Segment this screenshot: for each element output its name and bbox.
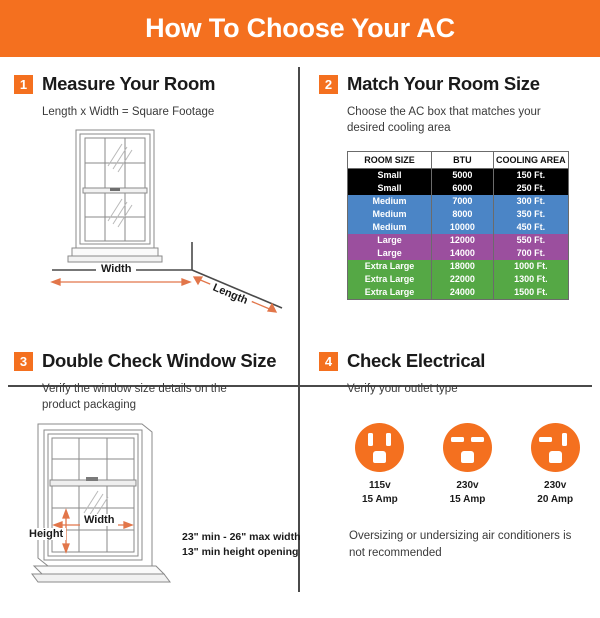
step-2-title: Match Your Room Size <box>347 73 540 95</box>
step-1-heading: 1 Measure Your Room <box>14 73 285 95</box>
table-row: Large12000550 Ft. <box>348 234 568 247</box>
cell-room-size: Medium <box>348 195 432 208</box>
btu-table-body: Small5000150 Ft. Small6000250 Ft. Medium… <box>348 168 568 299</box>
window-note-height: 13" min height opening <box>182 545 301 561</box>
step-1-badge: 1 <box>14 75 33 94</box>
cell-btu: 5000 <box>432 168 494 182</box>
ground-hole <box>461 451 474 463</box>
outlet-230v-20amp-voltage: 230v <box>524 479 586 493</box>
slot-vertical-left <box>368 433 373 446</box>
outlet-230v-15amp-voltage: 230v <box>437 479 499 493</box>
cell-room-size: Medium <box>348 221 432 234</box>
steps-grid: 1 Measure Your Room Length x Width = Squ… <box>0 57 600 600</box>
btu-table-wrapper: ROOM SIZE BTU COOLING AREA Small5000150 … <box>347 151 569 300</box>
cell-btu: 8000 <box>432 208 494 221</box>
table-row: Medium7000300 Ft. <box>348 195 568 208</box>
table-row: Extra Large240001500 Ft. <box>348 286 568 299</box>
step-4-badge: 4 <box>319 352 338 371</box>
step-3-title: Double Check Window Size <box>42 350 276 372</box>
table-row: Medium8000350 Ft. <box>348 208 568 221</box>
cell-btu: 14000 <box>432 247 494 260</box>
btu-table-header-row: ROOM SIZE BTU COOLING AREA <box>348 152 568 169</box>
step-4-title: Check Electrical <box>347 350 485 372</box>
step-1-panel: 1 Measure Your Room Length x Width = Squ… <box>0 57 299 328</box>
infographic-page: How To Choose Your AC 1 Measure Your Roo… <box>0 0 600 600</box>
cell-area: 1500 Ft. <box>493 286 568 299</box>
outlet-option-115v: 115v 15 Amp <box>349 423 411 506</box>
slot-horizontal-left <box>451 437 464 442</box>
cell-area: 450 Ft. <box>493 221 568 234</box>
outlet-230v-20amp-label: 230v 20 Amp <box>524 479 586 506</box>
cell-area: 250 Ft. <box>493 182 568 195</box>
outlet-type-list: 115v 15 Amp 230v 15 Amp <box>349 423 586 506</box>
btu-header-cooling-area: COOLING AREA <box>493 152 568 169</box>
outlet-230v-15amp-amperage: 15 Amp <box>437 493 499 507</box>
step-2-badge: 2 <box>319 75 338 94</box>
table-row: Small6000250 Ft. <box>348 182 568 195</box>
step-3-heading: 3 Double Check Window Size <box>14 350 285 372</box>
cell-room-size: Large <box>348 234 432 247</box>
cell-area: 1000 Ft. <box>493 260 568 273</box>
slot-horizontal-right <box>471 437 484 442</box>
outlet-230v-15amp-icon <box>443 423 492 472</box>
cell-room-size: Medium <box>348 208 432 221</box>
cell-area: 550 Ft. <box>493 234 568 247</box>
slot-vertical-right <box>562 433 567 446</box>
cell-btu: 24000 <box>432 286 494 299</box>
cell-btu: 18000 <box>432 260 494 273</box>
page-title: How To Choose Your AC <box>145 13 455 44</box>
cell-area: 1300 Ft. <box>493 273 568 286</box>
outlet-option-230v-20amp: 230v 20 Amp <box>524 423 586 506</box>
table-row: Medium10000450 Ft. <box>348 221 568 234</box>
table-row: Extra Large180001000 Ft. <box>348 260 568 273</box>
window-size-notes: 23" min - 26" max width 13" min height o… <box>182 530 301 562</box>
window-measure-diagram: Width Height 23" min - 26" max width 13"… <box>14 418 285 618</box>
outlet-option-230v-15amp: 230v 15 Amp <box>437 423 499 506</box>
cell-area: 700 Ft. <box>493 247 568 260</box>
step-4-heading: 4 Check Electrical <box>319 350 586 372</box>
outlet-115v-voltage: 115v <box>349 479 411 493</box>
step-2-panel: 2 Match Your Room Size Choose the AC box… <box>299 57 600 328</box>
oversizing-footnote: Oversizing or undersizing air conditione… <box>349 528 581 561</box>
cell-room-size: Extra Large <box>348 286 432 299</box>
cell-room-size: Extra Large <box>348 273 432 286</box>
outlet-115v-15amp-icon <box>355 423 404 472</box>
outlet-115v-label: 115v 15 Amp <box>349 479 411 506</box>
cell-area: 300 Ft. <box>493 195 568 208</box>
btu-header-room-size: ROOM SIZE <box>348 152 432 169</box>
cell-room-size: Extra Large <box>348 260 432 273</box>
cell-btu: 12000 <box>432 234 494 247</box>
window-width-label: Width <box>80 514 118 526</box>
outlet-115v-amperage: 15 Amp <box>349 493 411 507</box>
table-row: Extra Large220001300 Ft. <box>348 273 568 286</box>
cell-btu: 22000 <box>432 273 494 286</box>
step-2-heading: 2 Match Your Room Size <box>319 73 586 95</box>
ground-hole <box>549 451 562 463</box>
room-width-label: Width <box>96 263 136 275</box>
room-corner-diagram: Width Length <box>14 122 285 317</box>
table-row: Large14000700 Ft. <box>348 247 568 260</box>
outlet-230v-20amp-amperage: 20 Amp <box>524 493 586 507</box>
step-4-subtitle: Verify your outlet type <box>347 381 586 397</box>
btu-table: ROOM SIZE BTU COOLING AREA Small5000150 … <box>348 152 568 299</box>
btu-header-btu: BTU <box>432 152 494 169</box>
step-1-title: Measure Your Room <box>42 73 215 95</box>
step-1-subtitle: Length x Width = Square Footage <box>42 104 285 120</box>
outlet-230v-20amp-icon <box>531 423 580 472</box>
cell-area: 150 Ft. <box>493 168 568 182</box>
cell-room-size: Large <box>348 247 432 260</box>
cell-area: 350 Ft. <box>493 208 568 221</box>
step-3-panel: 3 Double Check Window Size Verify the wi… <box>0 328 299 600</box>
step-2-subtitle: Choose the AC box that matches your desi… <box>347 104 547 137</box>
window-note-width: 23" min - 26" max width <box>182 530 301 546</box>
cell-btu: 7000 <box>432 195 494 208</box>
table-row: Small5000150 Ft. <box>348 168 568 182</box>
window-height-label: Height <box>26 528 66 540</box>
cell-room-size: Small <box>348 182 432 195</box>
header-banner: How To Choose Your AC <box>0 0 600 57</box>
slot-vertical-right <box>386 433 391 446</box>
step-4-panel: 4 Check Electrical Verify your outlet ty… <box>299 328 600 600</box>
step-3-subtitle: Verify the window size details on the pr… <box>42 381 252 414</box>
cell-btu: 10000 <box>432 221 494 234</box>
slot-horizontal-left <box>539 437 552 442</box>
step-3-badge: 3 <box>14 352 33 371</box>
cell-btu: 6000 <box>432 182 494 195</box>
ground-hole <box>373 451 386 463</box>
outlet-230v-15amp-label: 230v 15 Amp <box>437 479 499 506</box>
cell-room-size: Small <box>348 168 432 182</box>
